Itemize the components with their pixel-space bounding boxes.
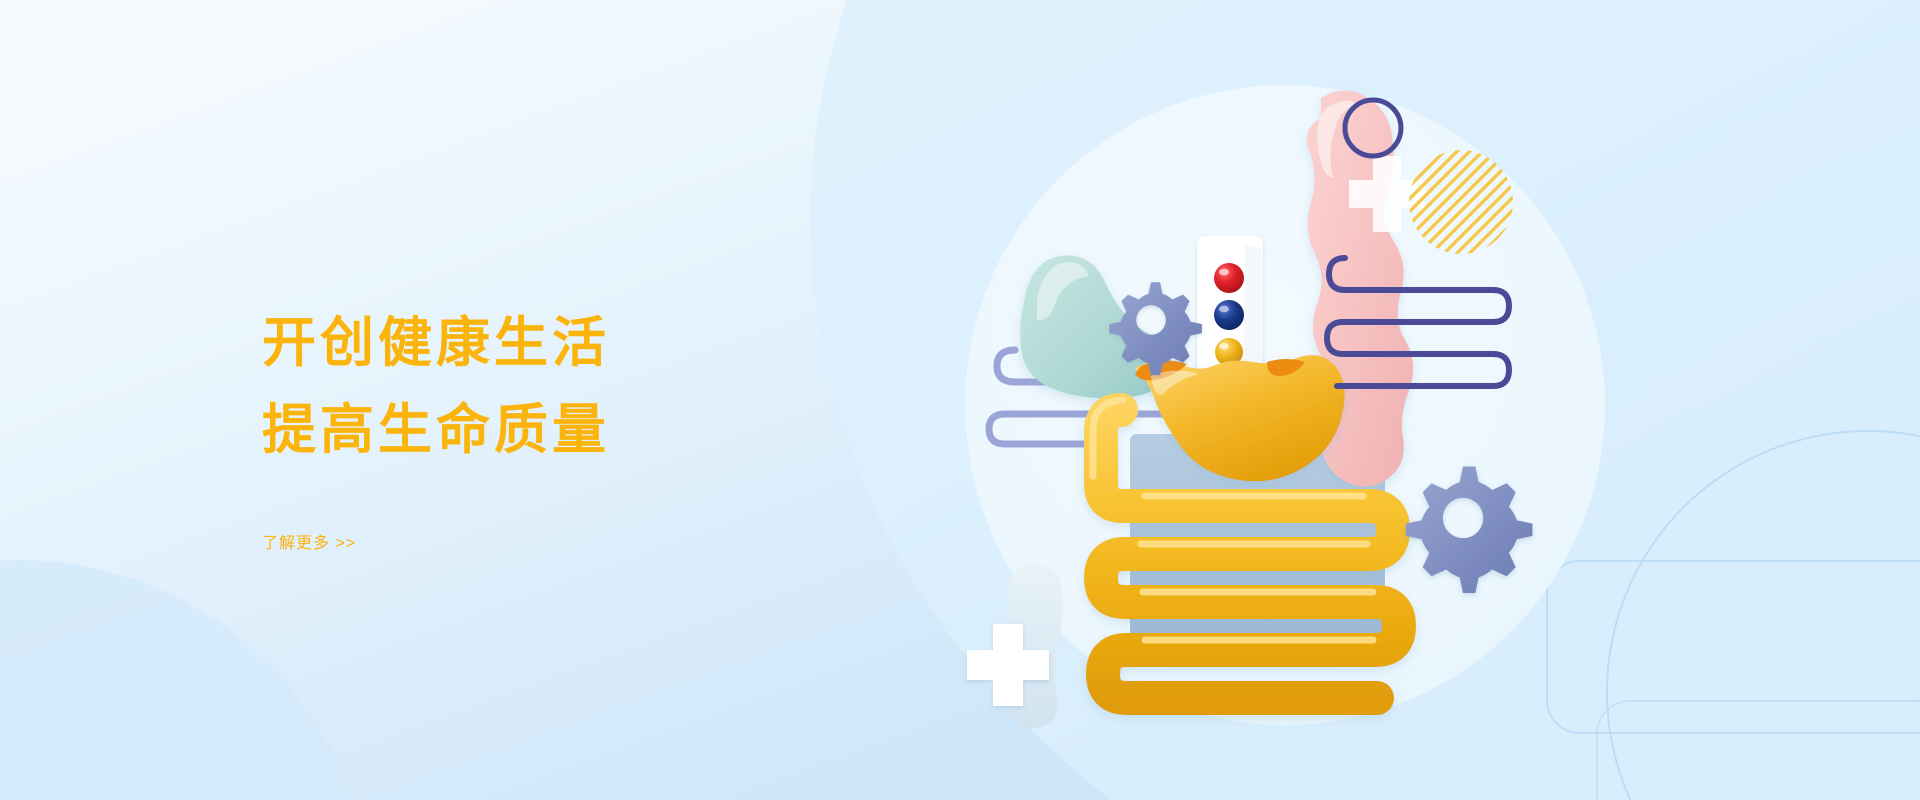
- hero-banner: 开创健康生活 提高生命质量 了解更多 >>: [0, 0, 1920, 800]
- dot-navy-icon: [1214, 300, 1244, 330]
- banner-copy: 开创健康生活 提高生命质量 了解更多 >>: [262, 300, 962, 553]
- background-blob-left: [0, 560, 370, 800]
- headline-line-1: 开创健康生活: [262, 300, 962, 387]
- striped-circle-icon: [1409, 150, 1513, 254]
- dot-red-icon: [1214, 263, 1244, 293]
- digestive-system-illustration: [945, 50, 1645, 750]
- learn-more-link[interactable]: 了解更多 >>: [262, 529, 356, 553]
- illustration-container: [945, 50, 1645, 750]
- gear-large-icon: [1406, 466, 1533, 593]
- headline-line-2: 提高生命质量: [262, 387, 962, 474]
